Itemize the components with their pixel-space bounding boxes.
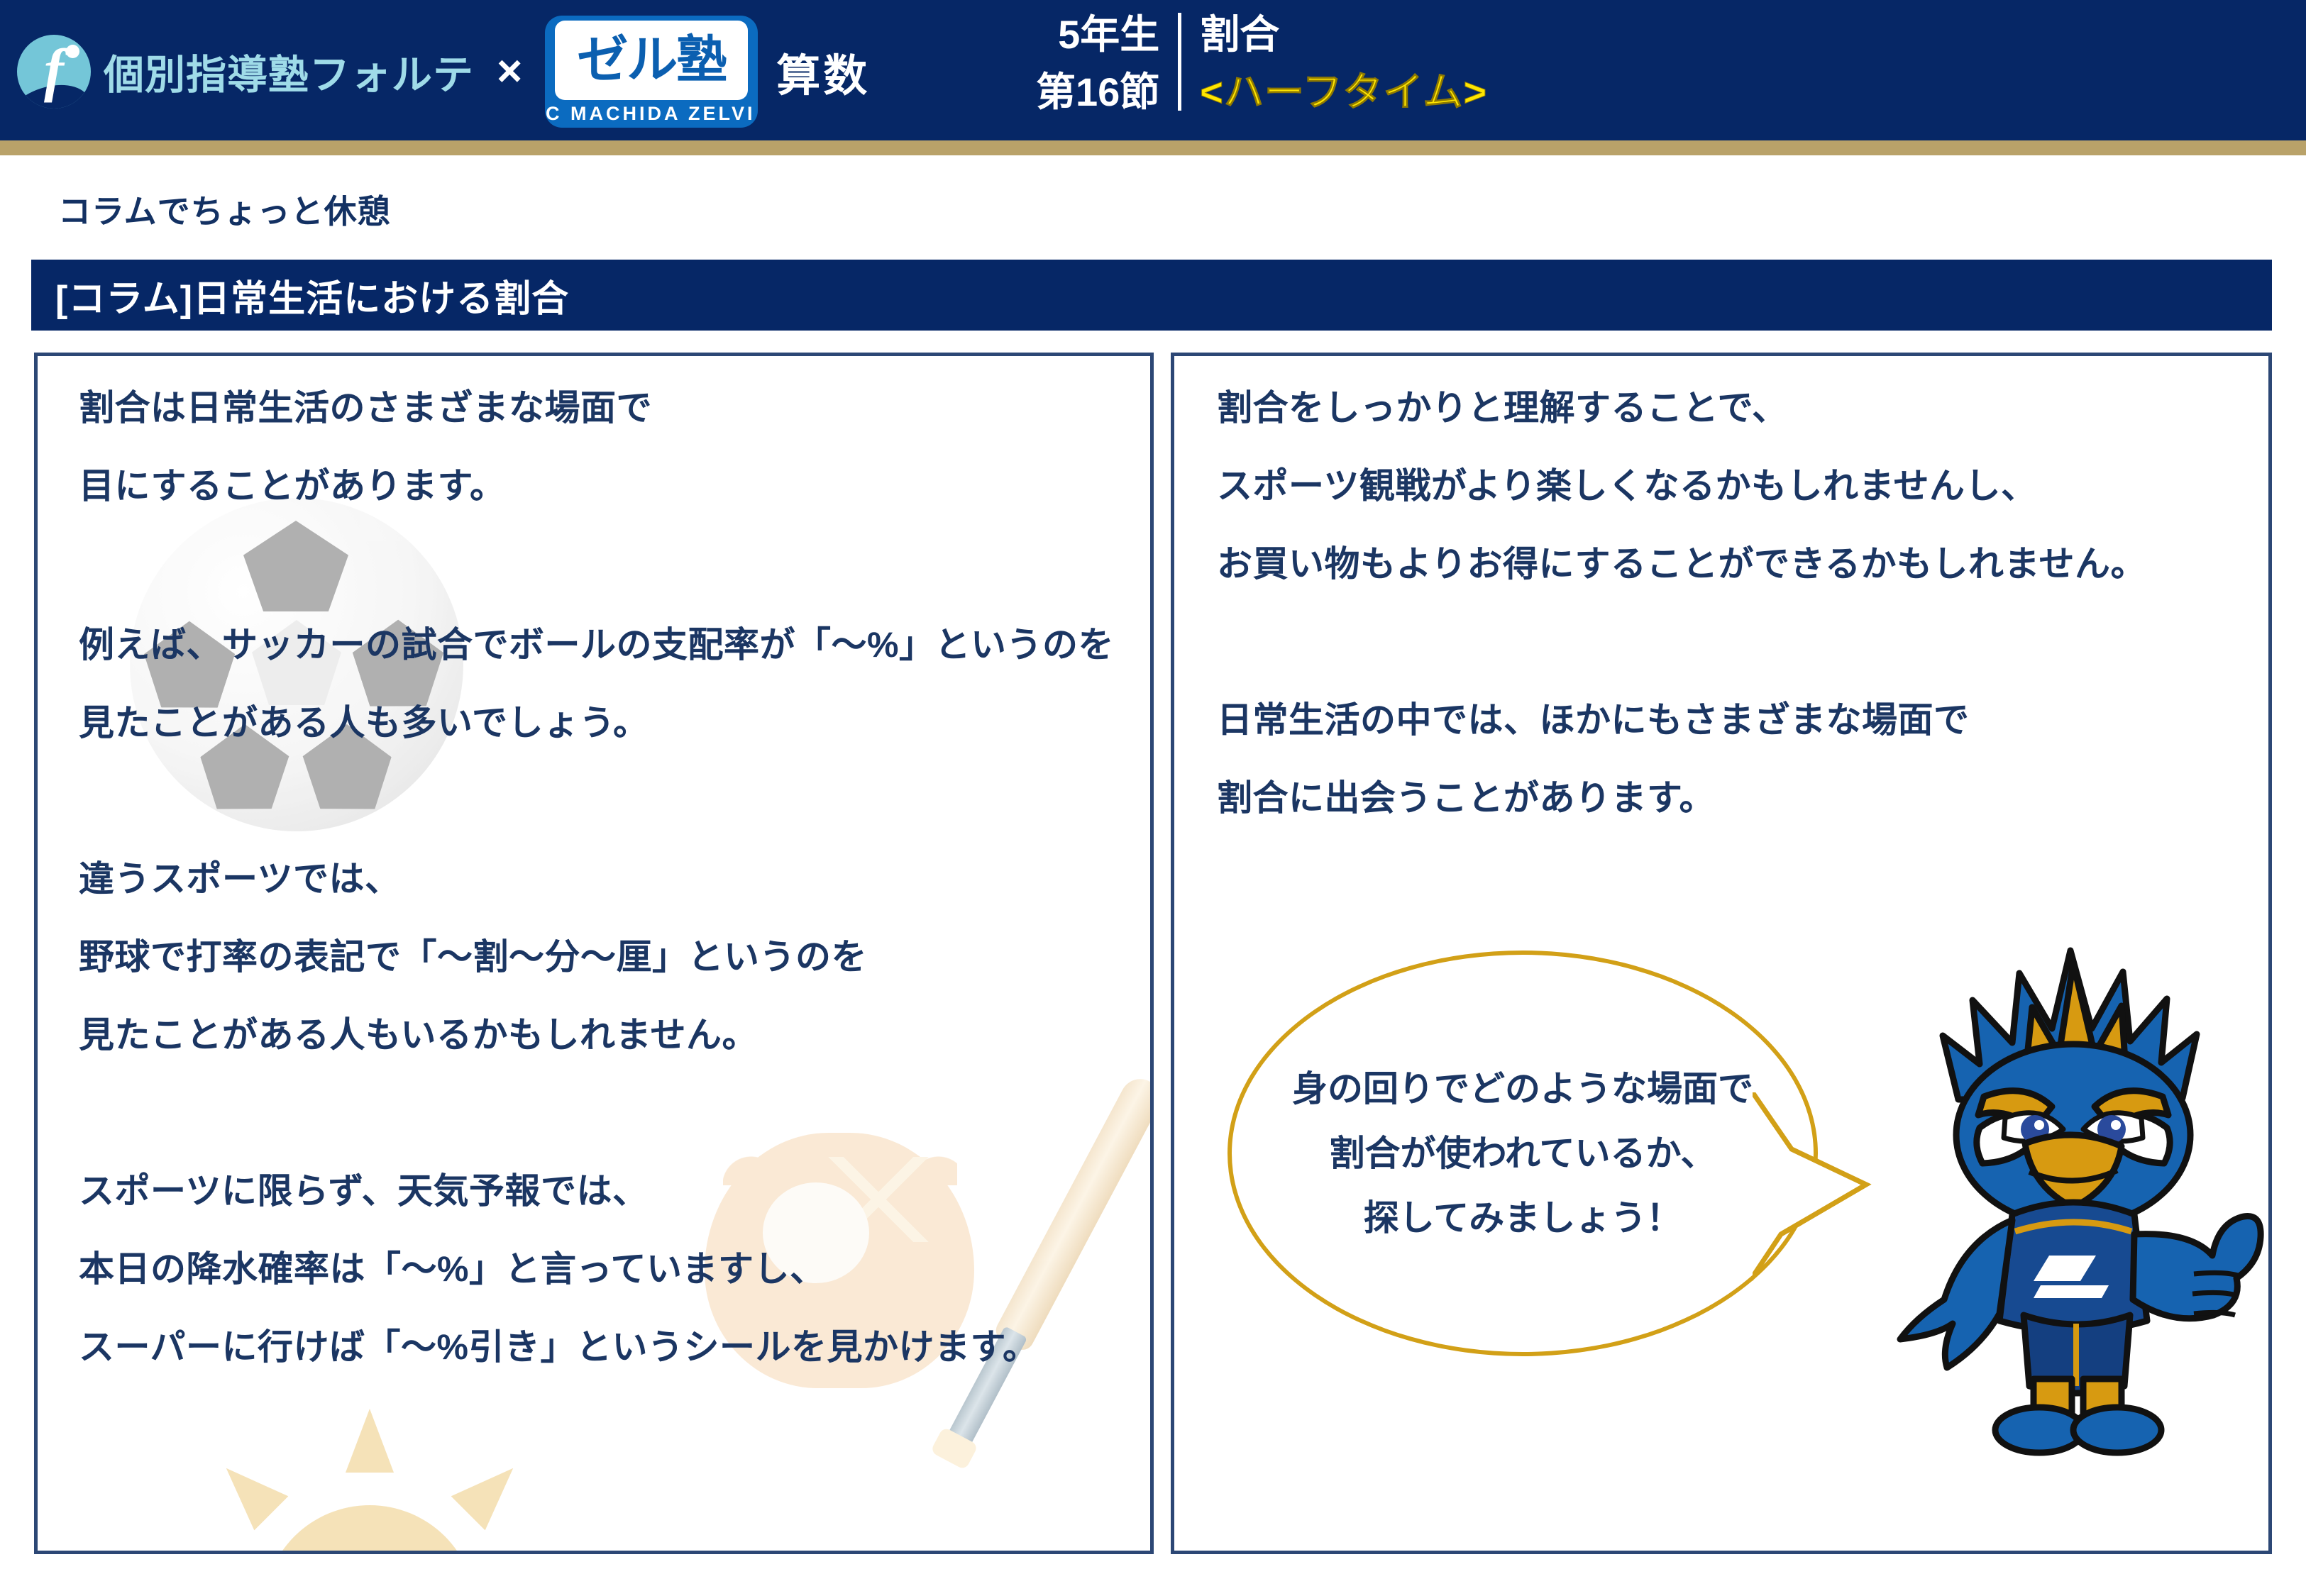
right-text-line: スポーツ観戦がより楽しくなるかもしれませんし、 xyxy=(1217,468,2037,504)
grade-label: 5年生 xyxy=(1036,6,1159,63)
header-title-group: 5年生 第16節 割合 <ハーフタイム> xyxy=(1036,6,1487,121)
left-text-line: 野球で打率の表記で「〜割〜分〜厘」というのを xyxy=(79,939,867,975)
phase-label: <ハーフタイム> xyxy=(1200,63,1487,121)
left-column-panel: 割合は日常生活のさまざまな場面で 目にすることがあります。 例えば、サッカーの試… xyxy=(34,353,1154,1554)
forte-dot-shape xyxy=(66,45,79,58)
right-text-line: 日常生活の中では、ほかにもさまざまな場面で xyxy=(1217,702,1970,738)
baseball-bat-icon xyxy=(920,1070,1154,1482)
grade-section-column: 5年生 第16節 xyxy=(1036,6,1178,121)
right-text-line: 割合に出会うことがあります。 xyxy=(1217,780,1715,816)
right-text-line: お買い物もよりお得にすることができるかもしれません。 xyxy=(1217,546,2146,582)
section-title-text: [コラム]日常生活における割合 xyxy=(31,269,569,322)
zelvia-club-name: FC MACHIDA ZELVIA xyxy=(545,103,758,125)
speech-bubble: 身の回りでどのような場面で 割合が使われているか、 探してみましょう！ xyxy=(1228,951,1818,1356)
zelvia-logo-kana: ゼル塾 xyxy=(577,35,726,86)
subject-label: 算数 xyxy=(776,40,870,104)
left-text-line: 見たことがある人もいるかもしれません。 xyxy=(79,1017,758,1053)
left-text-line: 目にすることがあります。 xyxy=(79,468,506,504)
zelvia-logo-plate: ゼル塾 xyxy=(555,21,748,100)
bubble-text-line: 割合が使われているか、 xyxy=(1330,1121,1716,1186)
left-text-line: 例えば、サッカーの試合でボールの支配率が「〜%」というのを xyxy=(79,627,1114,663)
forte-f-glyph: f xyxy=(44,40,64,100)
left-text-line: 割合は日常生活のさまざまな場面で xyxy=(79,390,652,426)
forte-logo: f 個別指導塾フォルテ xyxy=(17,35,474,109)
bubble-text-line: 探してみましょう！ xyxy=(1364,1186,1682,1251)
left-text-line: 違うスポーツでは、 xyxy=(79,861,401,897)
left-text-line: スーパーに行けば「〜%引き」というシールを見かけます。 xyxy=(79,1329,1038,1365)
section-number-label: 第16節 xyxy=(1036,63,1159,121)
bubble-text-line: 身の回りでどのような場面で xyxy=(1292,1057,1753,1121)
topic-label: 割合 xyxy=(1200,6,1487,63)
zelvy-mascot-icon xyxy=(1873,922,2271,1461)
zelvia-juku-logo: ゼル塾 FC MACHIDA ZELVIA xyxy=(545,16,758,128)
left-text-line: 本日の降水確率は「〜%」と言っていますし、 xyxy=(79,1251,825,1287)
break-label: コラムでちょっと休憩 xyxy=(58,186,391,233)
soccer-ball-icon xyxy=(130,498,463,831)
collaboration-cross-icon: × xyxy=(492,50,526,94)
section-title-bar: [コラム]日常生活における割合 xyxy=(31,260,2272,331)
forte-name-label: 個別指導塾フォルテ xyxy=(104,43,474,101)
gold-divider-bar xyxy=(0,140,2306,155)
page-header: f 個別指導塾フォルテ × ゼル塾 FC MACHIDA ZELVIA 算数 5… xyxy=(0,0,2306,140)
forte-f-icon: f xyxy=(17,35,91,109)
header-brand-group: f 個別指導塾フォルテ × ゼル塾 FC MACHIDA ZELVIA 算数 xyxy=(17,16,870,128)
right-text-line: 割合をしっかりと理解することで、 xyxy=(1217,390,1788,426)
left-text-line: スポーツに限らず、天気予報では、 xyxy=(79,1173,649,1209)
left-text-line: 見たことがある人も多いでしょう。 xyxy=(79,705,649,741)
topic-phase-column: 割合 <ハーフタイム> xyxy=(1181,6,1487,121)
sun-icon xyxy=(157,1399,583,1554)
